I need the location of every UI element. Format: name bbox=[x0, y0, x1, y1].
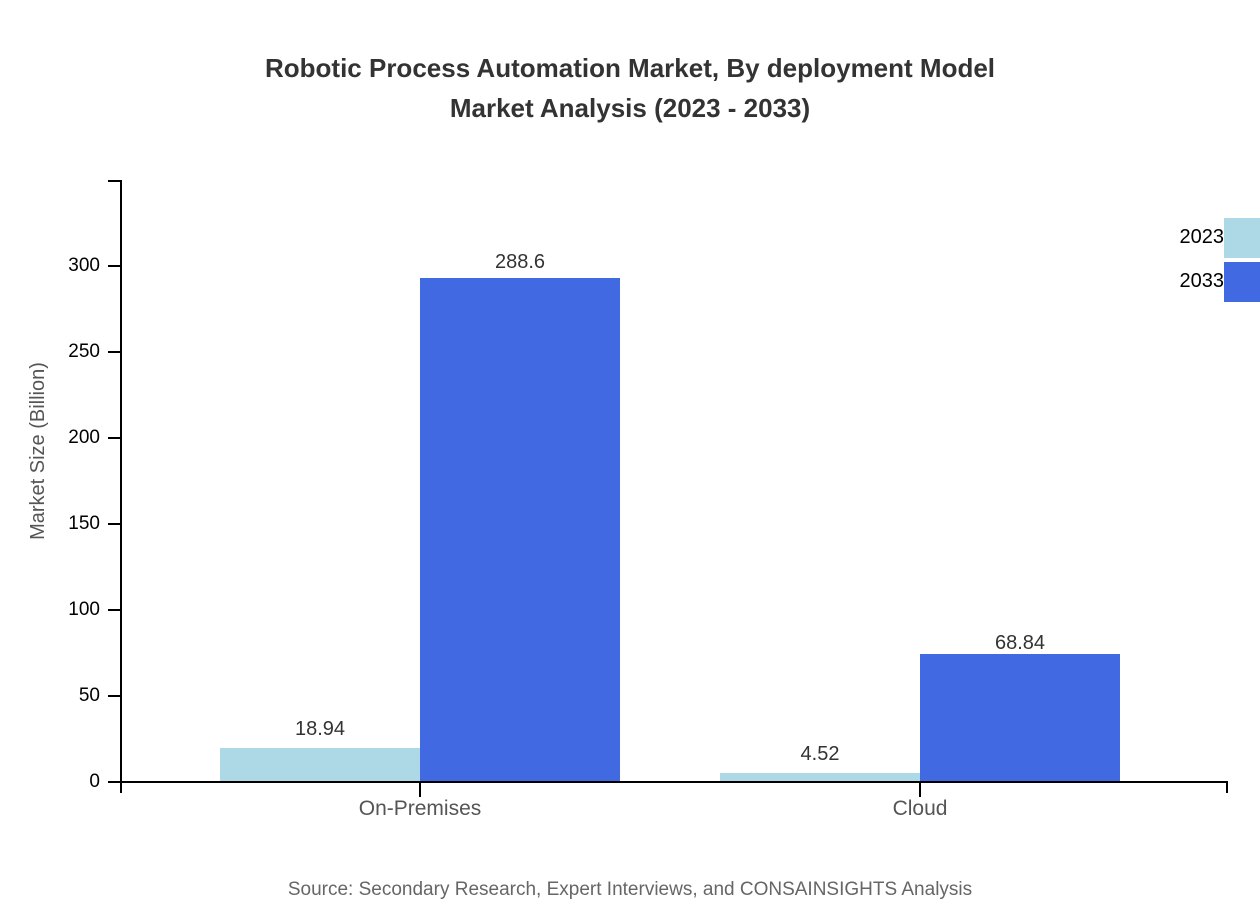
bar-value-onpremises-2033: 288.6 bbox=[420, 251, 620, 273]
legend-label-2023: 2023 bbox=[1180, 226, 1225, 248]
chart-title-line-1: Robotic Process Automation Market, By de… bbox=[0, 48, 1260, 88]
y-tick-mark-150 bbox=[108, 523, 122, 525]
y-tick-mark-50 bbox=[108, 695, 122, 697]
y-tick-label-50: 50 bbox=[10, 686, 100, 705]
y-tick-label-150: 150 bbox=[10, 514, 100, 533]
y-tick-mark-200 bbox=[108, 437, 122, 439]
bar-value-cloud-2023: 4.52 bbox=[720, 743, 920, 765]
source-note: Source: Secondary Research, Expert Inter… bbox=[0, 878, 1260, 902]
y-axis-line bbox=[120, 180, 122, 784]
legend-item-2023[interactable]: 2023 bbox=[1100, 218, 1260, 258]
y-tick-mark-250 bbox=[108, 351, 122, 353]
y-tick-mark-100 bbox=[108, 609, 122, 611]
x-axis-label-cloud: Cloud bbox=[770, 795, 1070, 823]
y-tick-label-300: 300 bbox=[10, 256, 100, 275]
y-tick-label-250: 250 bbox=[10, 342, 100, 361]
y-axis-top-cap bbox=[108, 180, 122, 182]
bar-cloud-2033[interactable] bbox=[920, 654, 1120, 781]
legend-item-2033[interactable]: 2033 bbox=[1100, 262, 1260, 302]
chart-title: Robotic Process Automation Market, By de… bbox=[0, 48, 1260, 128]
bar-chart: Robotic Process Automation Market, By de… bbox=[0, 0, 1260, 920]
bar-value-onpremises-2023: 18.94 bbox=[220, 718, 420, 740]
y-tick-label-200: 200 bbox=[10, 428, 100, 447]
y-tick-mark-300 bbox=[108, 265, 122, 267]
y-tick-label-100: 100 bbox=[10, 600, 100, 619]
x-axis-line bbox=[120, 781, 1228, 783]
legend-swatch-2033 bbox=[1224, 262, 1260, 302]
legend-swatch-2023 bbox=[1224, 218, 1260, 258]
bar-cloud-2023[interactable] bbox=[720, 773, 920, 781]
bar-value-cloud-2033: 68.84 bbox=[920, 632, 1120, 654]
bar-onpremises-2033[interactable] bbox=[420, 278, 620, 781]
chart-title-line-2: Market Analysis (2023 - 2033) bbox=[0, 88, 1260, 128]
y-tick-label-0: 0 bbox=[10, 772, 100, 791]
legend-label-2033: 2033 bbox=[1180, 270, 1225, 292]
y-tick-mark-0 bbox=[108, 781, 122, 783]
chart-legend: 2023 2033 bbox=[1100, 218, 1260, 308]
x-axis-right-cap bbox=[1226, 781, 1228, 793]
bar-onpremises-2023[interactable] bbox=[220, 748, 420, 781]
x-axis-label-onpremises: On-Premises bbox=[270, 795, 570, 823]
